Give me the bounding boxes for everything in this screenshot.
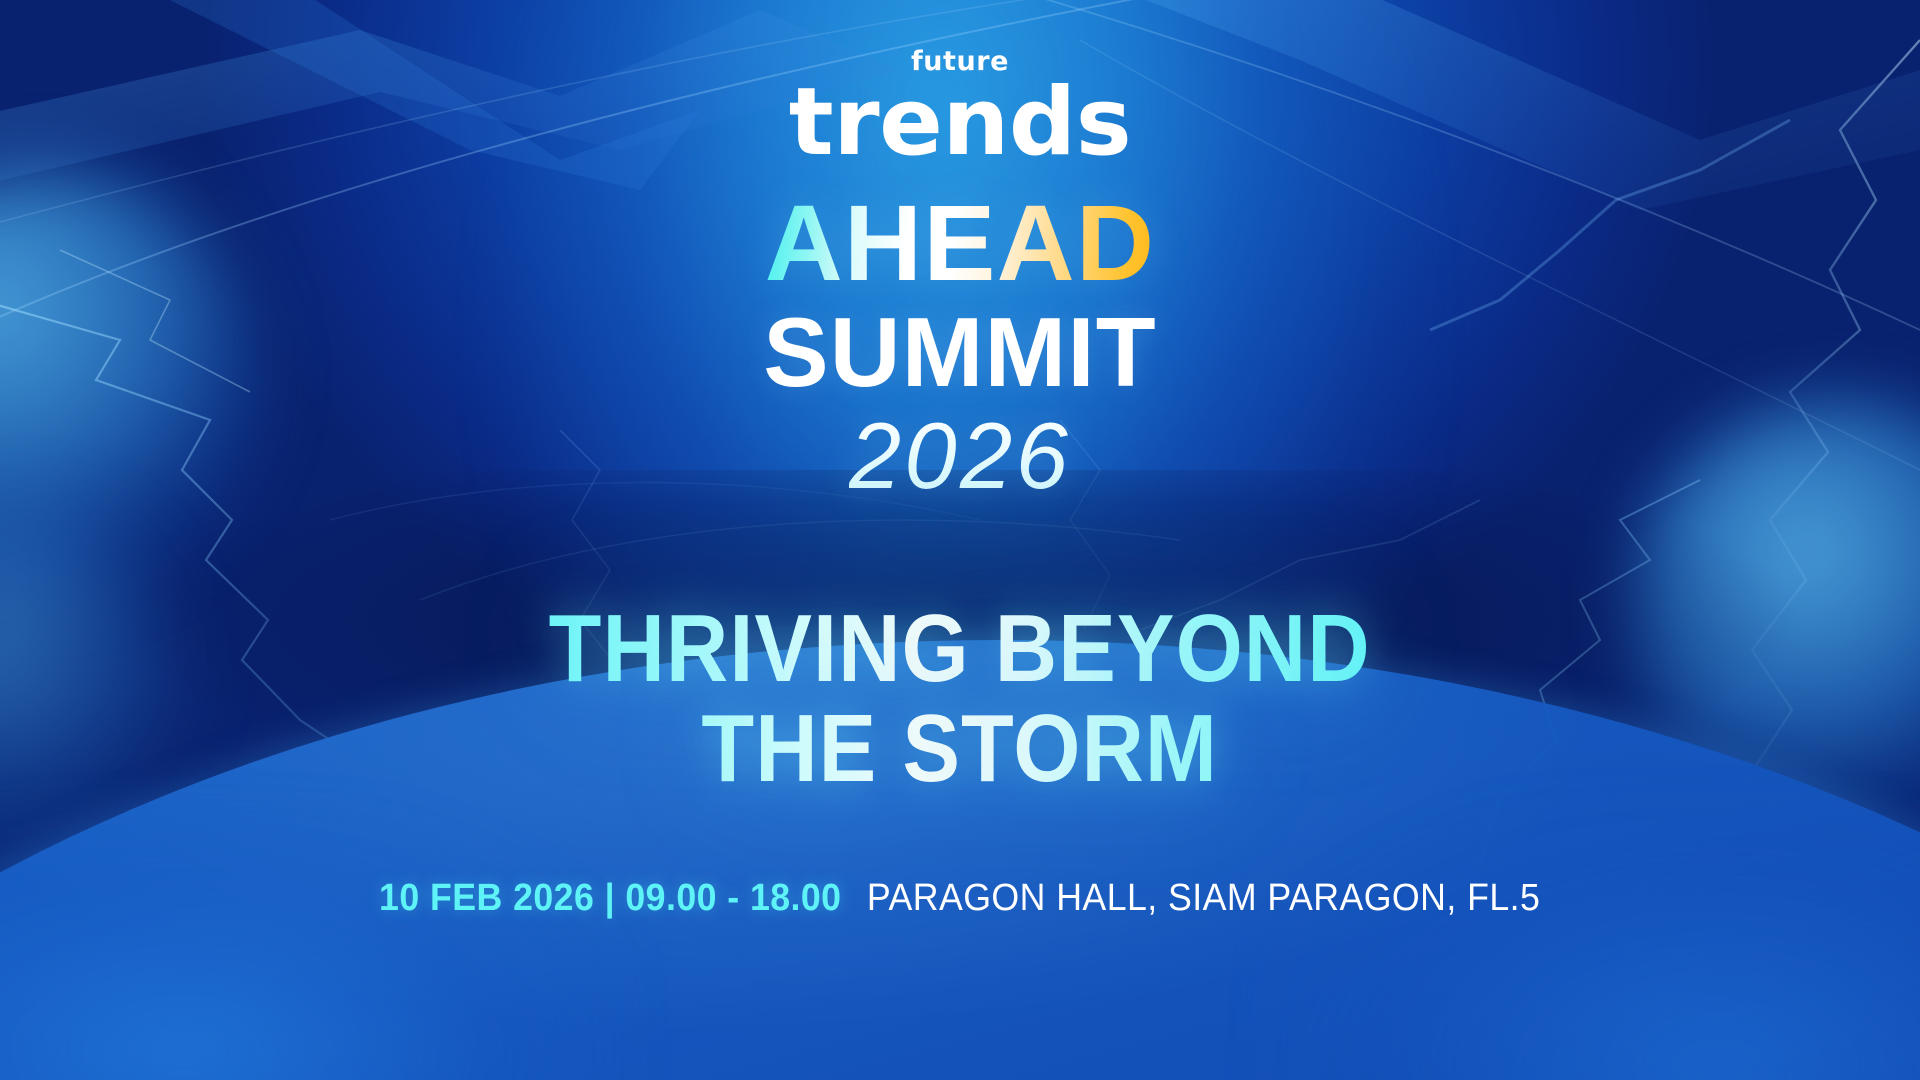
poster-content: future trends AHEAD SUMMIT 2026 THRIVING… xyxy=(0,0,1920,1080)
event-year: 2026 xyxy=(849,409,1071,503)
event-poster: future trends AHEAD SUMMIT 2026 THRIVING… xyxy=(0,0,1920,1080)
event-date-time: 10 FEB 2026 | 09.00 - 18.00 xyxy=(379,877,841,919)
event-title-line-1: AHEAD xyxy=(765,189,1156,297)
event-details: 10 FEB 2026 | 09.00 - 18.00 PARAGON HALL… xyxy=(379,877,1540,920)
event-tagline: THRIVING BEYOND THE STORM xyxy=(503,599,1416,799)
tagline-line-1: THRIVING BEYOND xyxy=(549,599,1371,699)
brand-logo: future trends xyxy=(789,48,1131,169)
brand-name-main: trends xyxy=(789,77,1131,169)
tagline-line-2: THE STORM xyxy=(549,699,1371,799)
event-title-line-2: SUMMIT xyxy=(763,303,1157,401)
event-venue: PARAGON HALL, SIAM PARAGON, FL.5 xyxy=(867,877,1540,919)
